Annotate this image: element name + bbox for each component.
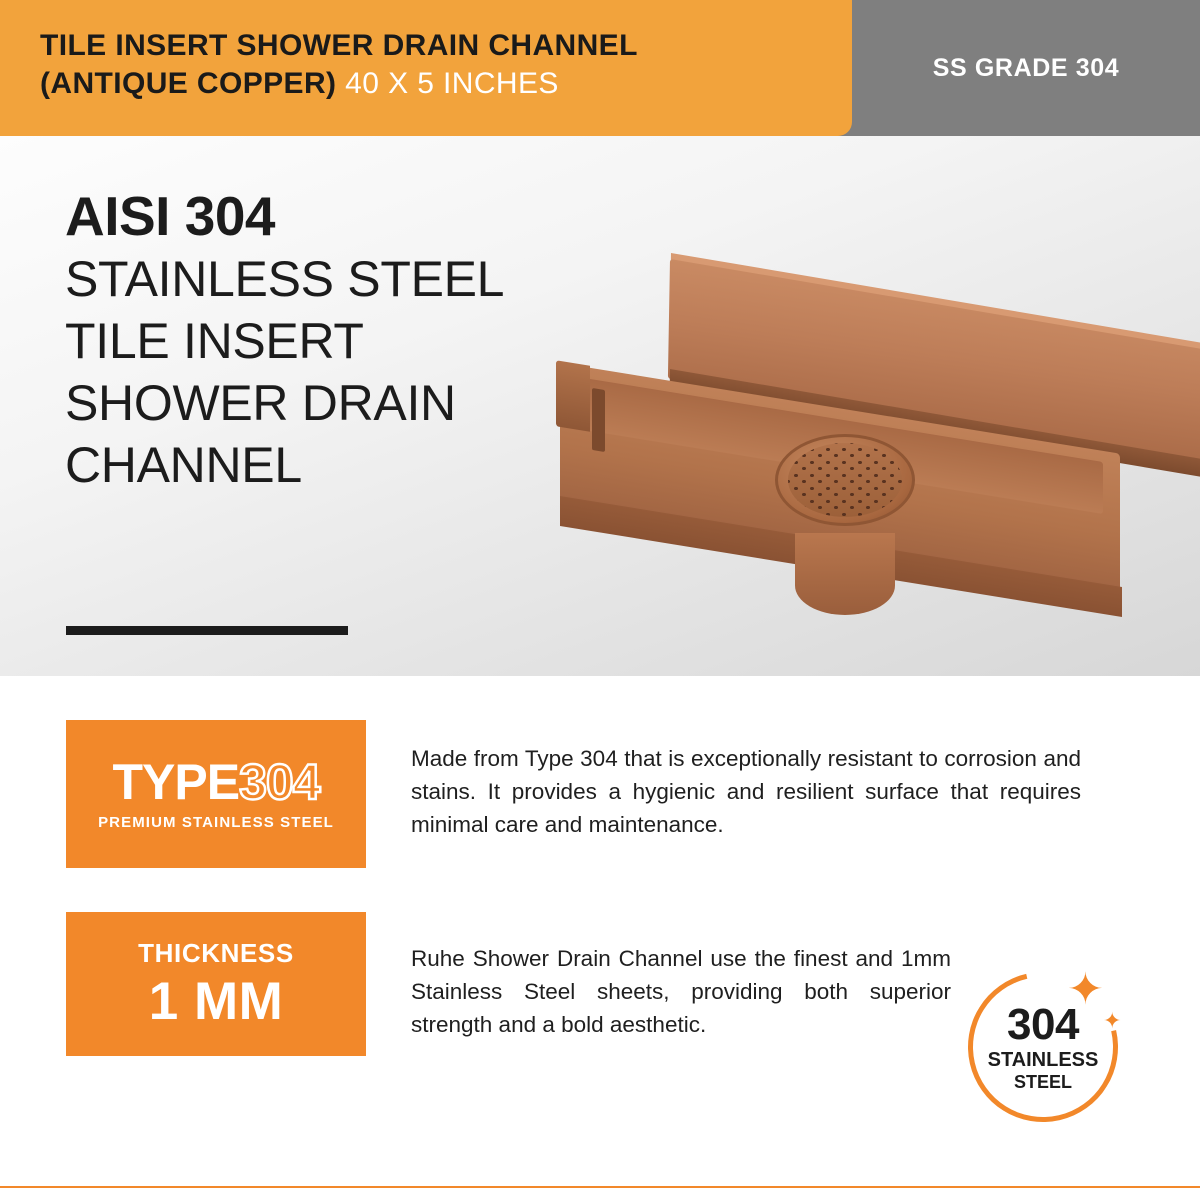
feature-row-type-304: TYPE304 PREMIUM STAINLESS STEEL Made fro… xyxy=(66,720,1136,868)
seal-line-1: STAINLESS xyxy=(963,1048,1123,1072)
product-size: 40 X 5 Inches xyxy=(345,67,559,100)
grade-badge: SS GRADE 304 xyxy=(852,0,1200,136)
seal-304-stainless-steel: ✦ ✦ 304 STAINLESS STEEL xyxy=(963,958,1133,1138)
badge-type-subtitle: PREMIUM STAINLESS STEEL xyxy=(66,814,366,831)
feature-description-type-304: Made from Type 304 that is exceptionally… xyxy=(411,720,1081,841)
badge-thickness-label: THICKNESS xyxy=(66,938,366,969)
footer-accent-line xyxy=(0,1186,1200,1188)
hero-section: AISI 304 STAINLESS STEEL TILE INSERT SHO… xyxy=(0,136,1200,676)
badge-thickness: THICKNESS 1 MM xyxy=(66,912,366,1056)
product-image xyxy=(540,241,1200,676)
badge-type-304: TYPE304 PREMIUM STAINLESS STEEL xyxy=(66,720,366,868)
header-title-band: Tile Insert Shower Drain Channel (Antiqu… xyxy=(0,0,852,136)
seal-text: 304 STAINLESS STEEL xyxy=(963,1002,1123,1093)
product-variant: (Antique Copper) xyxy=(40,67,336,100)
product-end-slot xyxy=(592,388,605,452)
product-left-end-cap xyxy=(556,360,590,431)
badge-type-number: 304 xyxy=(239,754,319,810)
product-outlet-pipe xyxy=(795,533,895,615)
header-bar: Tile Insert Shower Drain Channel (Antiqu… xyxy=(0,0,1200,136)
product-title-line-1: Tile Insert Shower Drain Channel xyxy=(40,27,840,65)
seal-number: 304 xyxy=(963,1002,1123,1048)
product-title-line-2: (Antique Copper) 40 X 5 Inches xyxy=(40,65,840,103)
hero-line-1: AISI 304 xyxy=(65,184,685,248)
feature-description-thickness: Ruhe Shower Drain Channel use the finest… xyxy=(411,912,951,1041)
badge-type-word: TYPE xyxy=(112,754,239,810)
product-strainer-holes xyxy=(788,443,902,517)
product-title: Tile Insert Shower Drain Channel (Antiqu… xyxy=(40,27,840,103)
seal-line-2: STEEL xyxy=(963,1072,1123,1093)
badge-type-304-title: TYPE304 xyxy=(66,756,366,808)
hero-underline xyxy=(66,626,348,635)
badge-thickness-value: 1 MM xyxy=(66,969,366,1035)
